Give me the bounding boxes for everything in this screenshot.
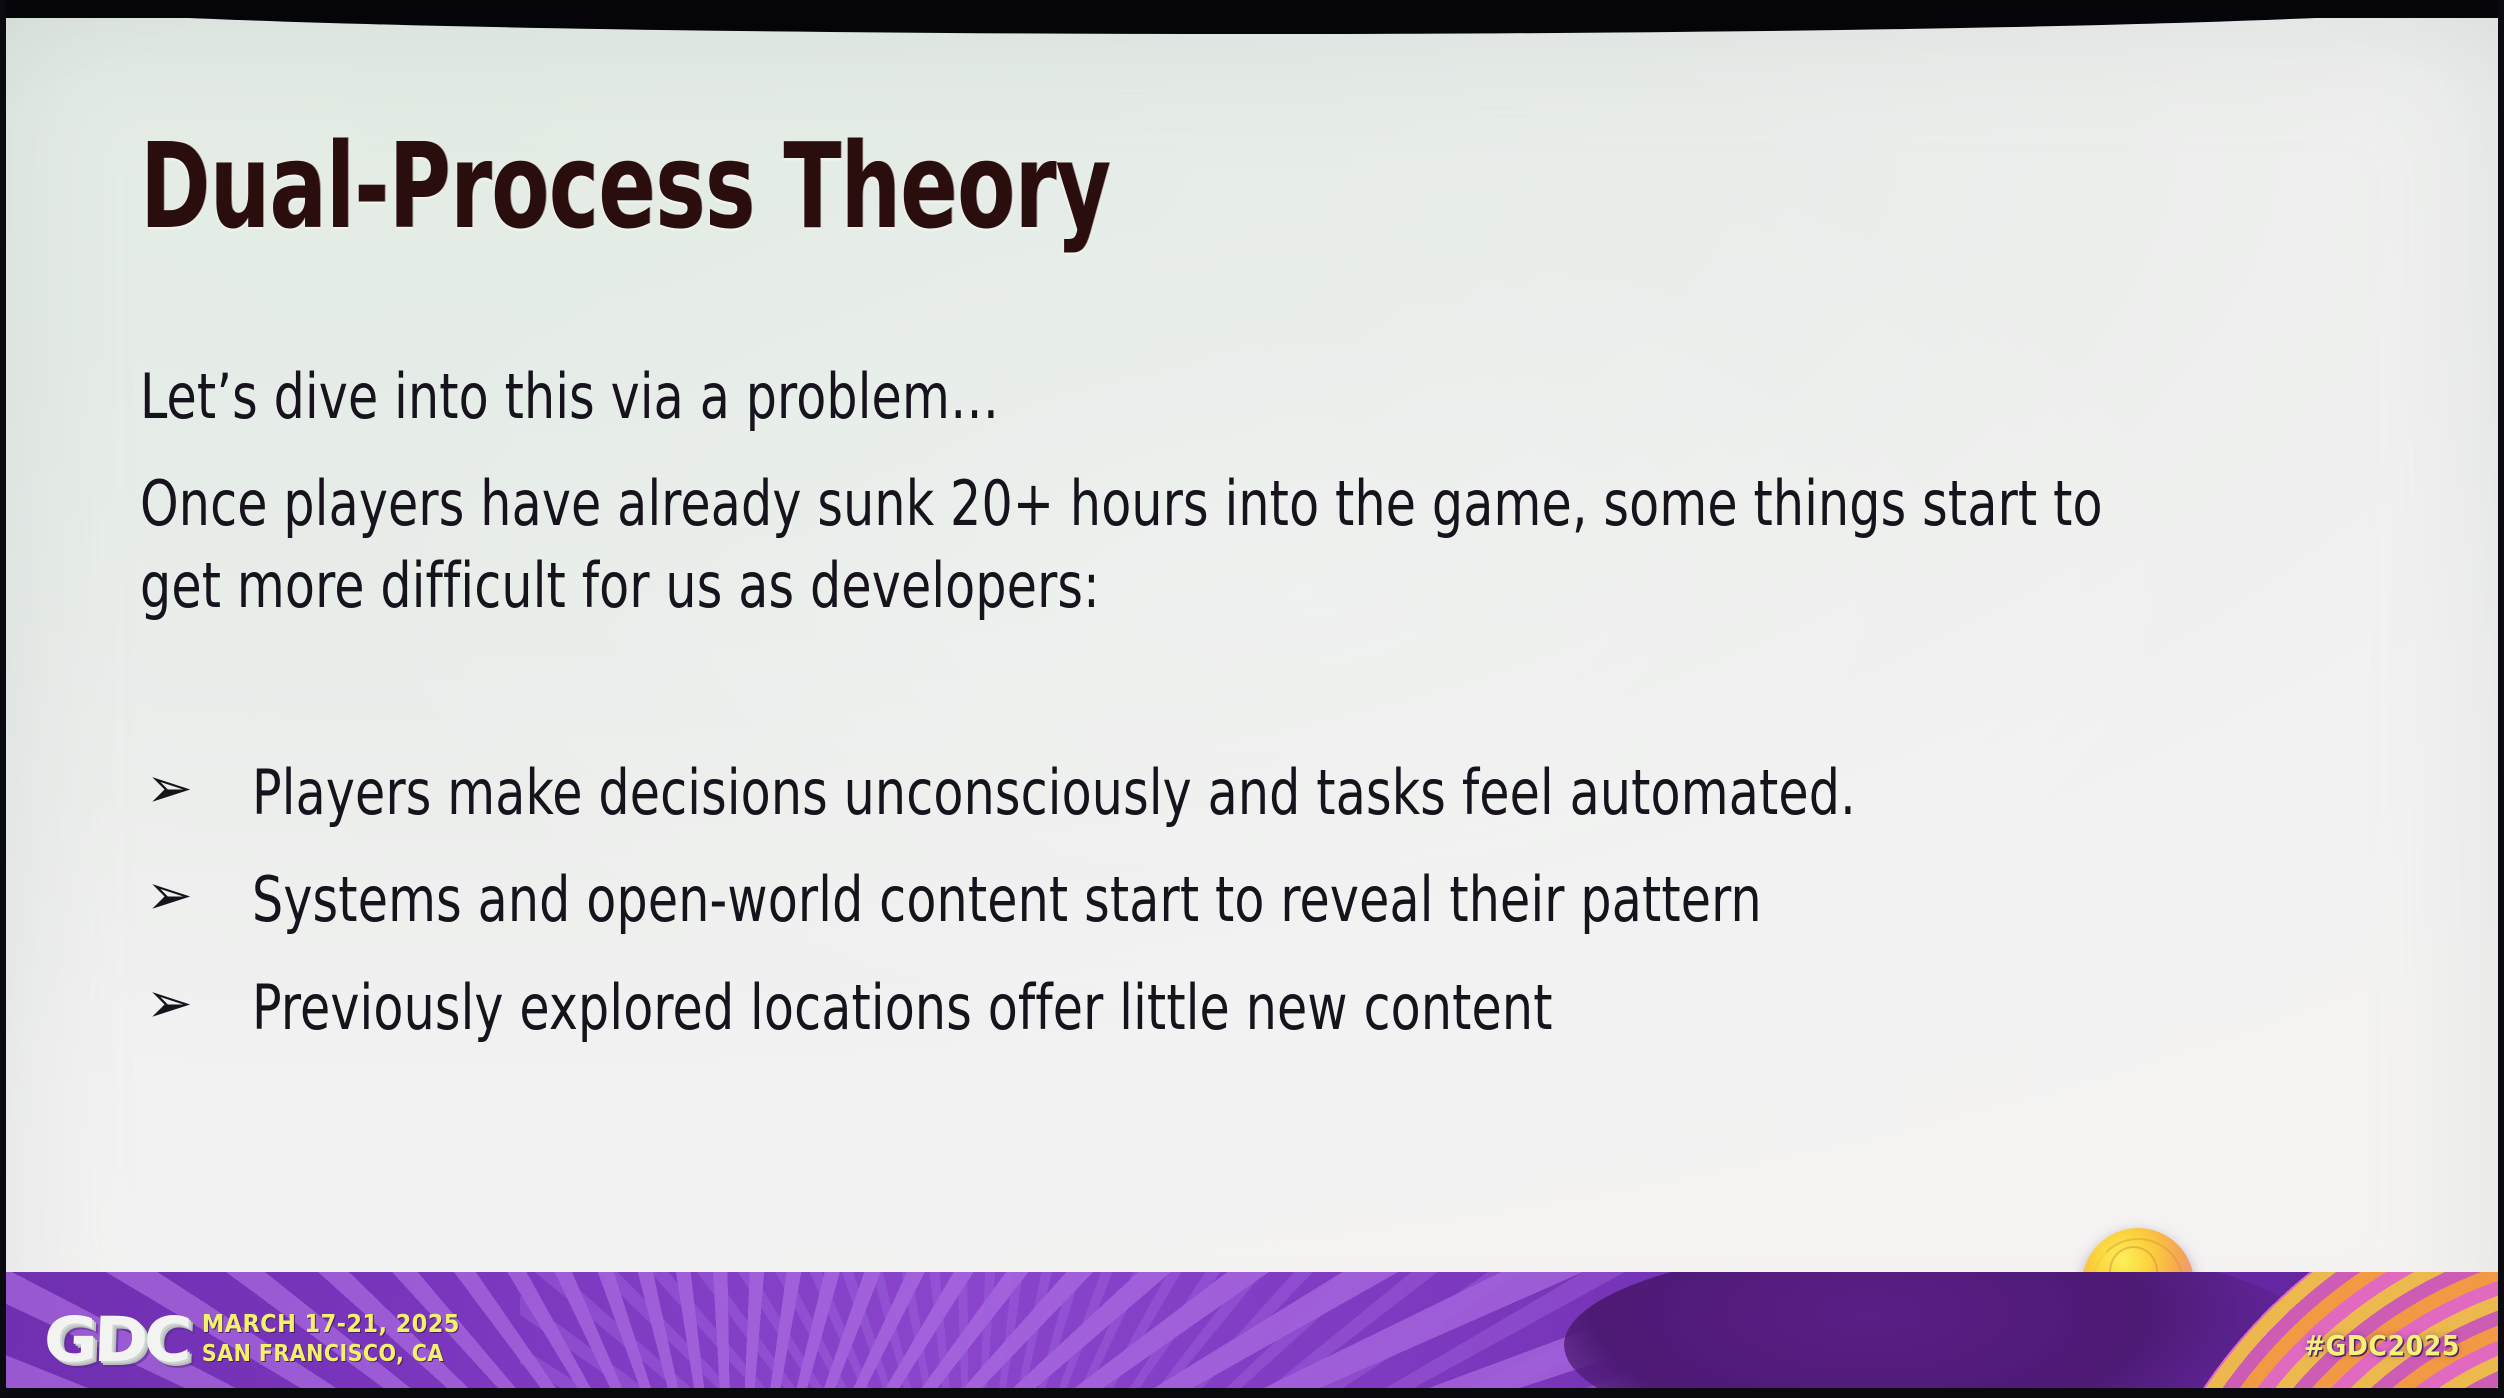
event-hashtag: #GDC2025 bbox=[2304, 1329, 2460, 1362]
slide-content: Dual-Process Theory Let’s dive into this… bbox=[0, 18, 2504, 1390]
list-item-label: Systems and open-world content start to … bbox=[252, 865, 1762, 934]
arrowhead-bullet-icon: ➢ bbox=[140, 758, 252, 821]
event-dates: MARCH 17-21, 2025 bbox=[202, 1309, 460, 1338]
bullet-list: ➢ Players make decisions unconsciously a… bbox=[140, 758, 2440, 1080]
lead-paragraph: Let’s dive into this via a problem… bbox=[140, 356, 2164, 438]
gdc-footer-banner: GDC MARCH 17-21, 2025 SAN FRANCISCO, CA … bbox=[0, 1272, 2504, 1390]
gdc-event-details: MARCH 17-21, 2025 SAN FRANCISCO, CA bbox=[202, 1309, 460, 1371]
photo-right-edge bbox=[2498, 0, 2504, 1398]
photo-bottom-edge bbox=[0, 1388, 2504, 1398]
list-item: ➢ Systems and open-world content start t… bbox=[140, 865, 2440, 934]
gdc-wordmark-icon: GDC bbox=[43, 1303, 190, 1376]
list-item-label: Players make decisions unconsciously and… bbox=[252, 758, 1856, 827]
arrowhead-bullet-icon: ➢ bbox=[140, 865, 252, 928]
page-title: Dual-Process Theory bbox=[140, 126, 1110, 246]
photo-left-edge bbox=[0, 0, 6, 1398]
event-location: SAN FRANCISCO, CA bbox=[202, 1341, 460, 1367]
gdc-logo: GDC MARCH 17-21, 2025 SAN FRANCISCO, CA bbox=[48, 1303, 460, 1376]
list-item: ➢ Previously explored locations offer li… bbox=[140, 973, 2440, 1042]
arrowhead-bullet-icon: ➢ bbox=[140, 973, 252, 1036]
problem-paragraph: Once players have already sunk 20+ hours… bbox=[140, 463, 2138, 628]
presentation-slide: Dual-Process Theory Let’s dive into this… bbox=[0, 18, 2504, 1390]
list-item-label: Previously explored locations offer litt… bbox=[252, 973, 1553, 1042]
projected-slide-photo: Dual-Process Theory Let’s dive into this… bbox=[0, 0, 2504, 1398]
list-item: ➢ Players make decisions unconsciously a… bbox=[140, 758, 2440, 827]
